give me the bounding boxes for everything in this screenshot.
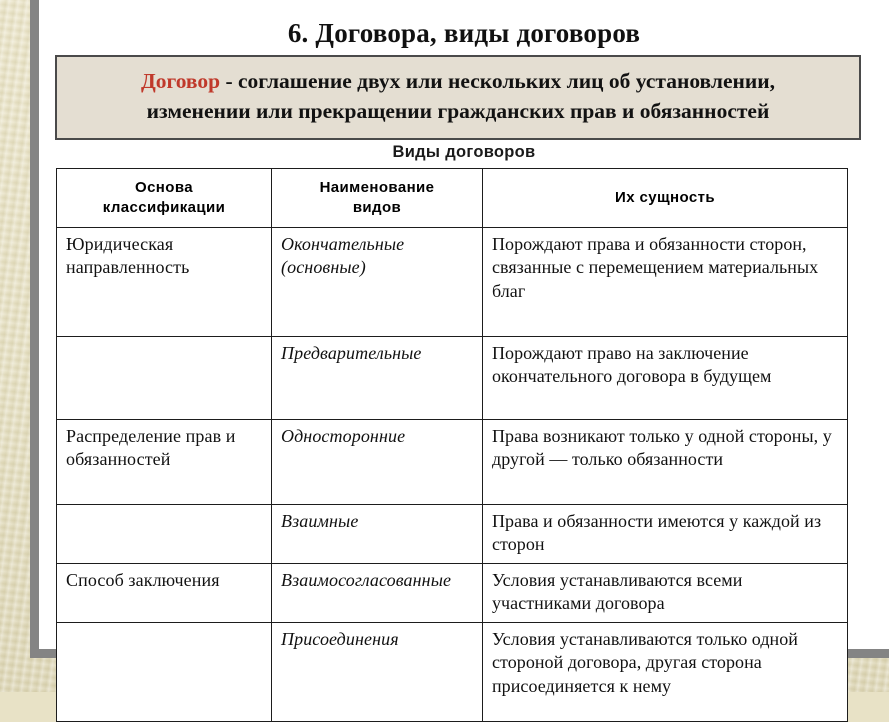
- table-row: Способ заключения Взаимосогласованные Ус…: [57, 564, 848, 623]
- table-row: Присоединения Условия устанавливаются то…: [57, 623, 848, 722]
- table-header-row: Основа классификации Наименование видов …: [57, 169, 848, 228]
- column-header-basis: Основа классификации: [57, 169, 272, 228]
- cell-basis: Распределение прав и обязанностей: [57, 420, 272, 505]
- column-header-basis-line2: классификации: [103, 199, 226, 216]
- slide-page: 6. Договора, виды договоров Договор - со…: [0, 0, 889, 692]
- contract-types-table: Основа классификации Наименование видов …: [56, 168, 848, 722]
- column-header-essence: Их сущность: [483, 169, 848, 228]
- column-header-basis-line1: Основа: [135, 179, 193, 196]
- table-caption: Виды договоров: [39, 143, 889, 162]
- cell-kind: Окончательные (основные): [272, 228, 483, 337]
- cell-essence: Права и обязанности имеются у каждой из …: [483, 505, 848, 564]
- definition-line-1: Договор - соглашение двух или нескольких…: [69, 67, 847, 97]
- slide-content-area: 6. Договора, виды договоров Договор - со…: [39, 0, 889, 649]
- column-header-kind-line1: Наименование: [320, 179, 435, 196]
- table-row: Предварительные Порождают право на заклю…: [57, 337, 848, 420]
- cell-kind: Взаимные: [272, 505, 483, 564]
- table-row: Распределение прав и обязанностей Одност…: [57, 420, 848, 505]
- cell-basis: [57, 337, 272, 420]
- page-title: 6. Договора, виды договоров: [39, 18, 889, 49]
- cell-essence: Права возникают только у одной стороны, …: [483, 420, 848, 505]
- cell-essence: Условия устанавливаются всеми участникам…: [483, 564, 848, 623]
- slide-plate: 6. Договора, виды договоров Договор - со…: [30, 0, 889, 658]
- cell-basis: [57, 505, 272, 564]
- table-row: Взаимные Права и обязанности имеются у к…: [57, 505, 848, 564]
- table-body: Юридическая направленность Окончательные…: [57, 228, 848, 722]
- column-header-kind-line2: видов: [353, 199, 401, 216]
- cell-basis: Юридическая направленность: [57, 228, 272, 337]
- table-row: Юридическая направленность Окончательные…: [57, 228, 848, 337]
- cell-essence: Порождают право на заключение окончатель…: [483, 337, 848, 420]
- definition-line-2: изменении или прекращении гражданских пр…: [69, 97, 847, 127]
- cell-essence: Порождают права и обязанности сторон, св…: [483, 228, 848, 337]
- definition-box: Договор - соглашение двух или нескольких…: [55, 55, 861, 140]
- types-table-wrapper: Основа классификации Наименование видов …: [56, 168, 847, 722]
- cell-essence: Условия устанавливаются только одной сто…: [483, 623, 848, 722]
- column-header-kind: Наименование видов: [272, 169, 483, 228]
- cell-basis: Способ заключения: [57, 564, 272, 623]
- cell-kind: Предварительные: [272, 337, 483, 420]
- cell-kind: Взаимосогласованные: [272, 564, 483, 623]
- cell-basis: [57, 623, 272, 722]
- definition-line-1-rest: - соглашение двух или нескольких лиц об …: [220, 69, 775, 93]
- cell-kind: Присоединения: [272, 623, 483, 722]
- definition-term: Договор: [141, 69, 220, 93]
- cell-kind: Односторонние: [272, 420, 483, 505]
